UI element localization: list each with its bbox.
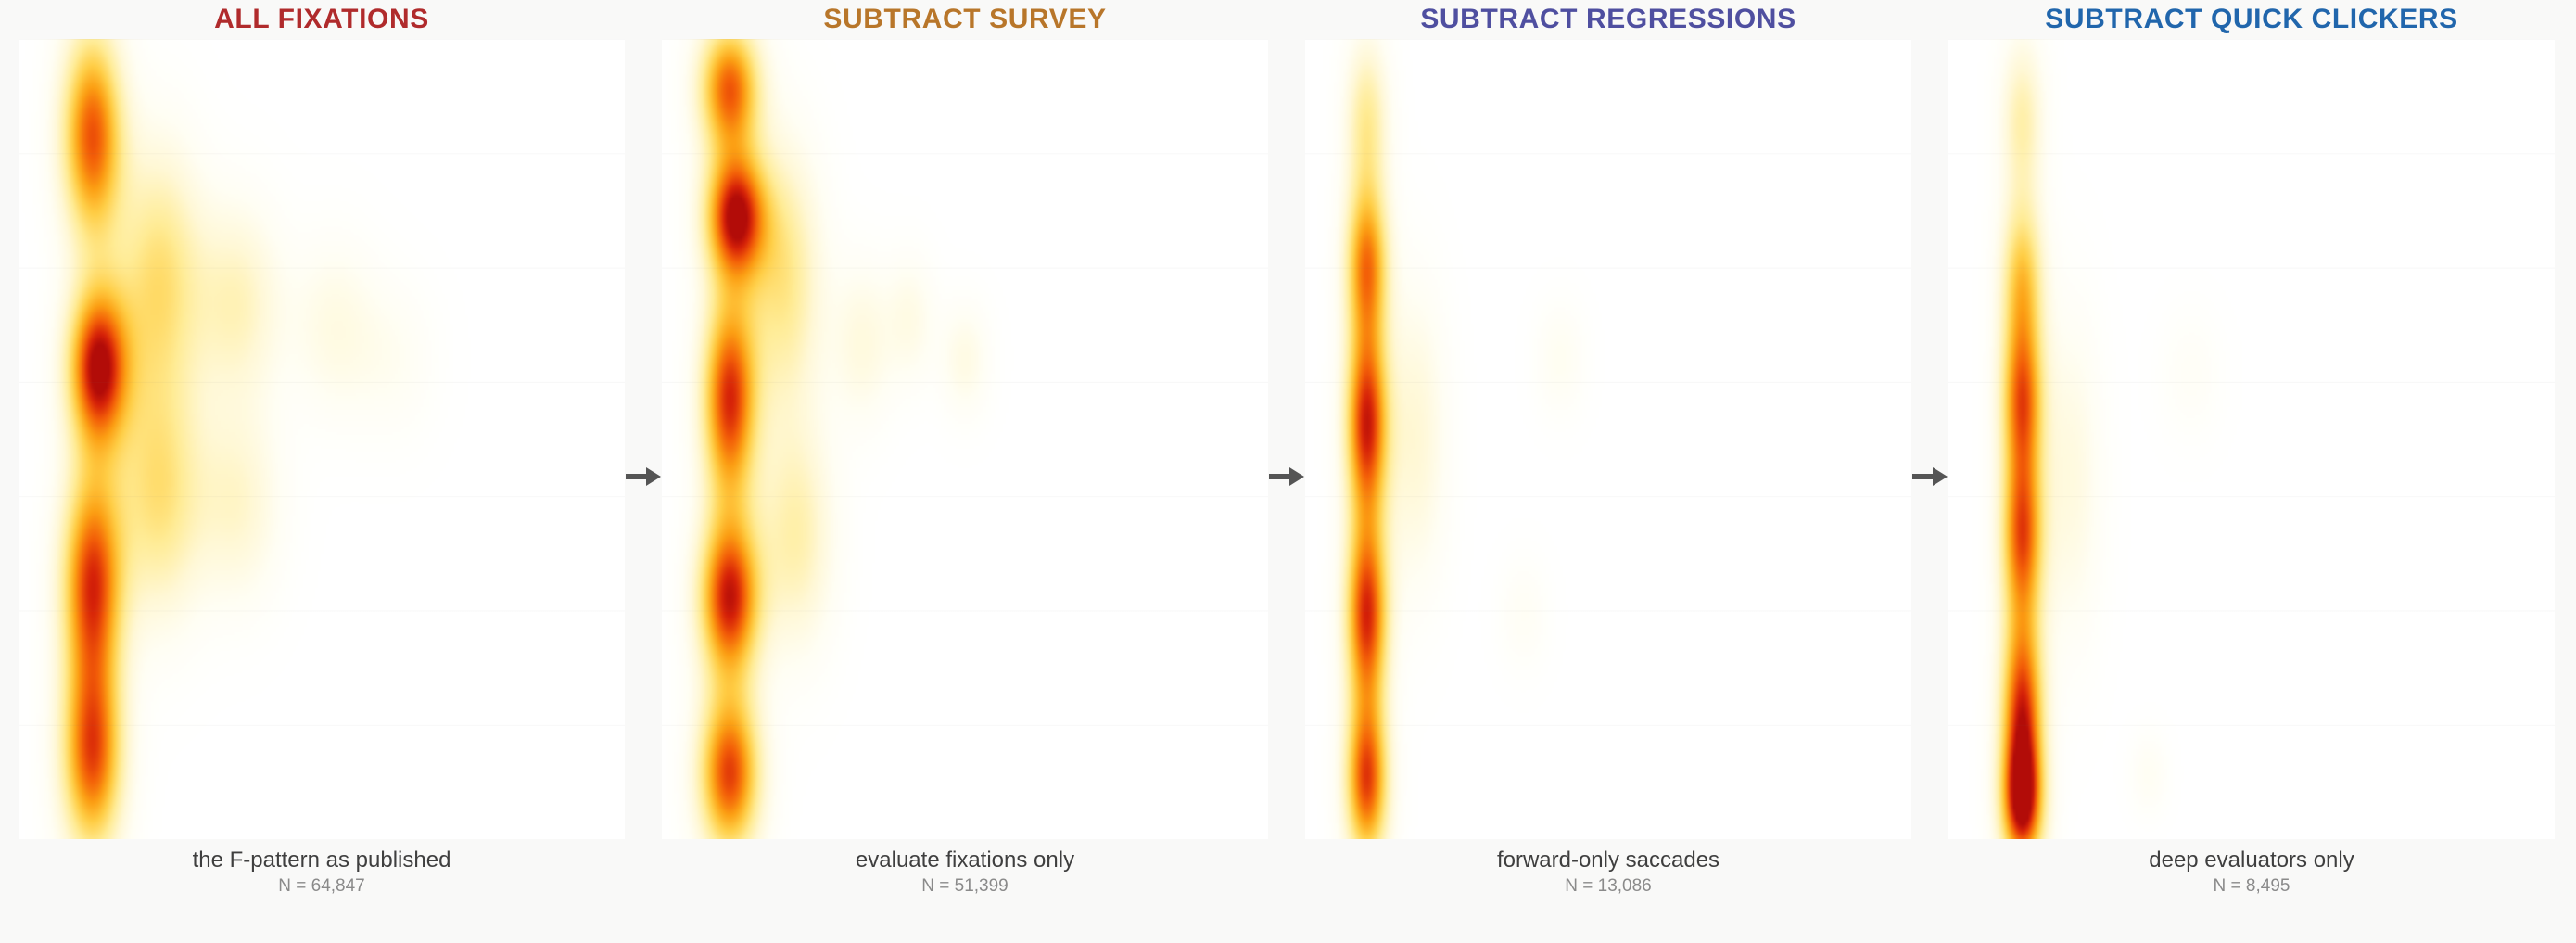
heatmap-figure: ALL FIXATIONS the F-pattern as published…: [0, 0, 2576, 943]
caption-text: forward-only saccades: [1287, 847, 1930, 874]
panel-subtract-survey: SUBTRACT SURVEY evaluate fixations only …: [643, 0, 1287, 943]
panel-caption: deep evaluators only N = 8,495: [1930, 847, 2573, 898]
panel-title: SUBTRACT SURVEY: [643, 0, 1287, 39]
heatmap-subtract-regressions: [1305, 39, 1911, 839]
heatmap-canvas: [1948, 39, 2555, 839]
panel-title: SUBTRACT QUICK CLICKERS: [1930, 0, 2573, 39]
caption-text: evaluate fixations only: [643, 847, 1287, 874]
arrow-right-icon: [1910, 460, 1949, 493]
caption-n-count: N = 51,399: [643, 874, 1287, 898]
heatmap-canvas: [662, 39, 1268, 839]
heatmap-canvas: [19, 39, 625, 839]
heatmap-subtract-quick-clickers: [1948, 39, 2555, 839]
heatmap-all-fixations: [19, 39, 625, 839]
panel-all-fixations: ALL FIXATIONS the F-pattern as published…: [0, 0, 643, 943]
caption-n-count: N = 8,495: [1930, 874, 2573, 898]
panel-subtract-quick-clickers: SUBTRACT QUICK CLICKERS deep evaluators …: [1930, 0, 2573, 943]
panel-subtract-regressions: SUBTRACT REGRESSIONS forward-only saccad…: [1287, 0, 1930, 943]
panel-caption: the F-pattern as published N = 64,847: [0, 847, 643, 898]
arrow-right-icon: [624, 460, 663, 493]
arrow-right-icon: [1267, 460, 1306, 493]
caption-text: deep evaluators only: [1930, 847, 2573, 874]
caption-n-count: N = 64,847: [0, 874, 643, 898]
panel-title: ALL FIXATIONS: [0, 0, 643, 39]
caption-text: the F-pattern as published: [0, 847, 643, 874]
heatmap-subtract-survey: [662, 39, 1268, 839]
panel-title: SUBTRACT REGRESSIONS: [1287, 0, 1930, 39]
heatmap-canvas: [1305, 39, 1911, 839]
panel-caption: evaluate fixations only N = 51,399: [643, 847, 1287, 898]
panel-caption: forward-only saccades N = 13,086: [1287, 847, 1930, 898]
caption-n-count: N = 13,086: [1287, 874, 1930, 898]
